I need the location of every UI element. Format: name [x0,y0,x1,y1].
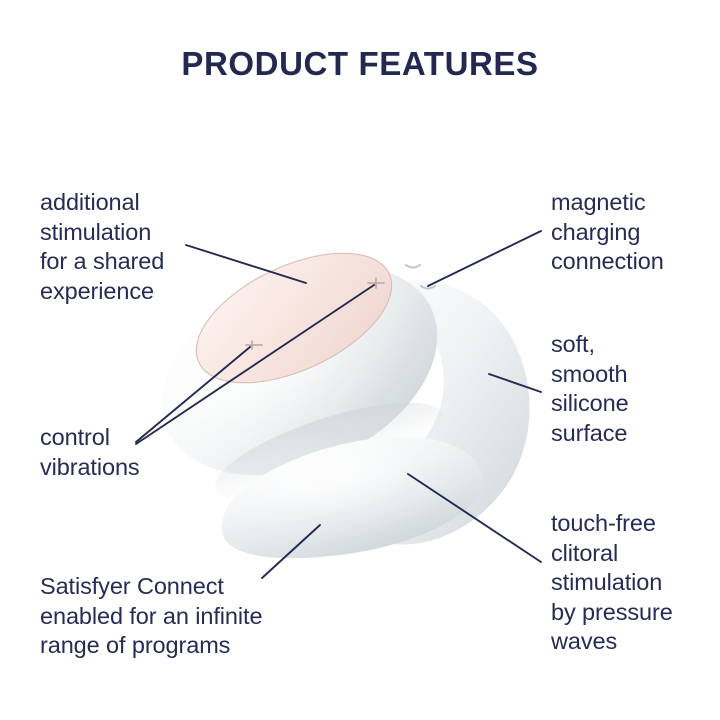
callout-soft-silicone-surface: soft, smooth silicone surface [551,330,720,448]
charging-contact-upper [406,265,420,268]
callout-satisfyer-connect: Satisfyer Connect enabled for an infinit… [40,572,330,661]
leader-magnetic-charging [428,231,541,286]
callout-additional-stimulation: additional stimulation for a shared expe… [40,188,270,306]
callout-touch-free-stimulation: touch-free clitoral stimulation by press… [551,509,720,657]
callout-control-vibrations: control vibrations [40,423,260,482]
callout-magnetic-charging: magnetic charging connection [551,188,720,277]
product-features-infographic: PRODUCT FEATURES [0,0,720,720]
